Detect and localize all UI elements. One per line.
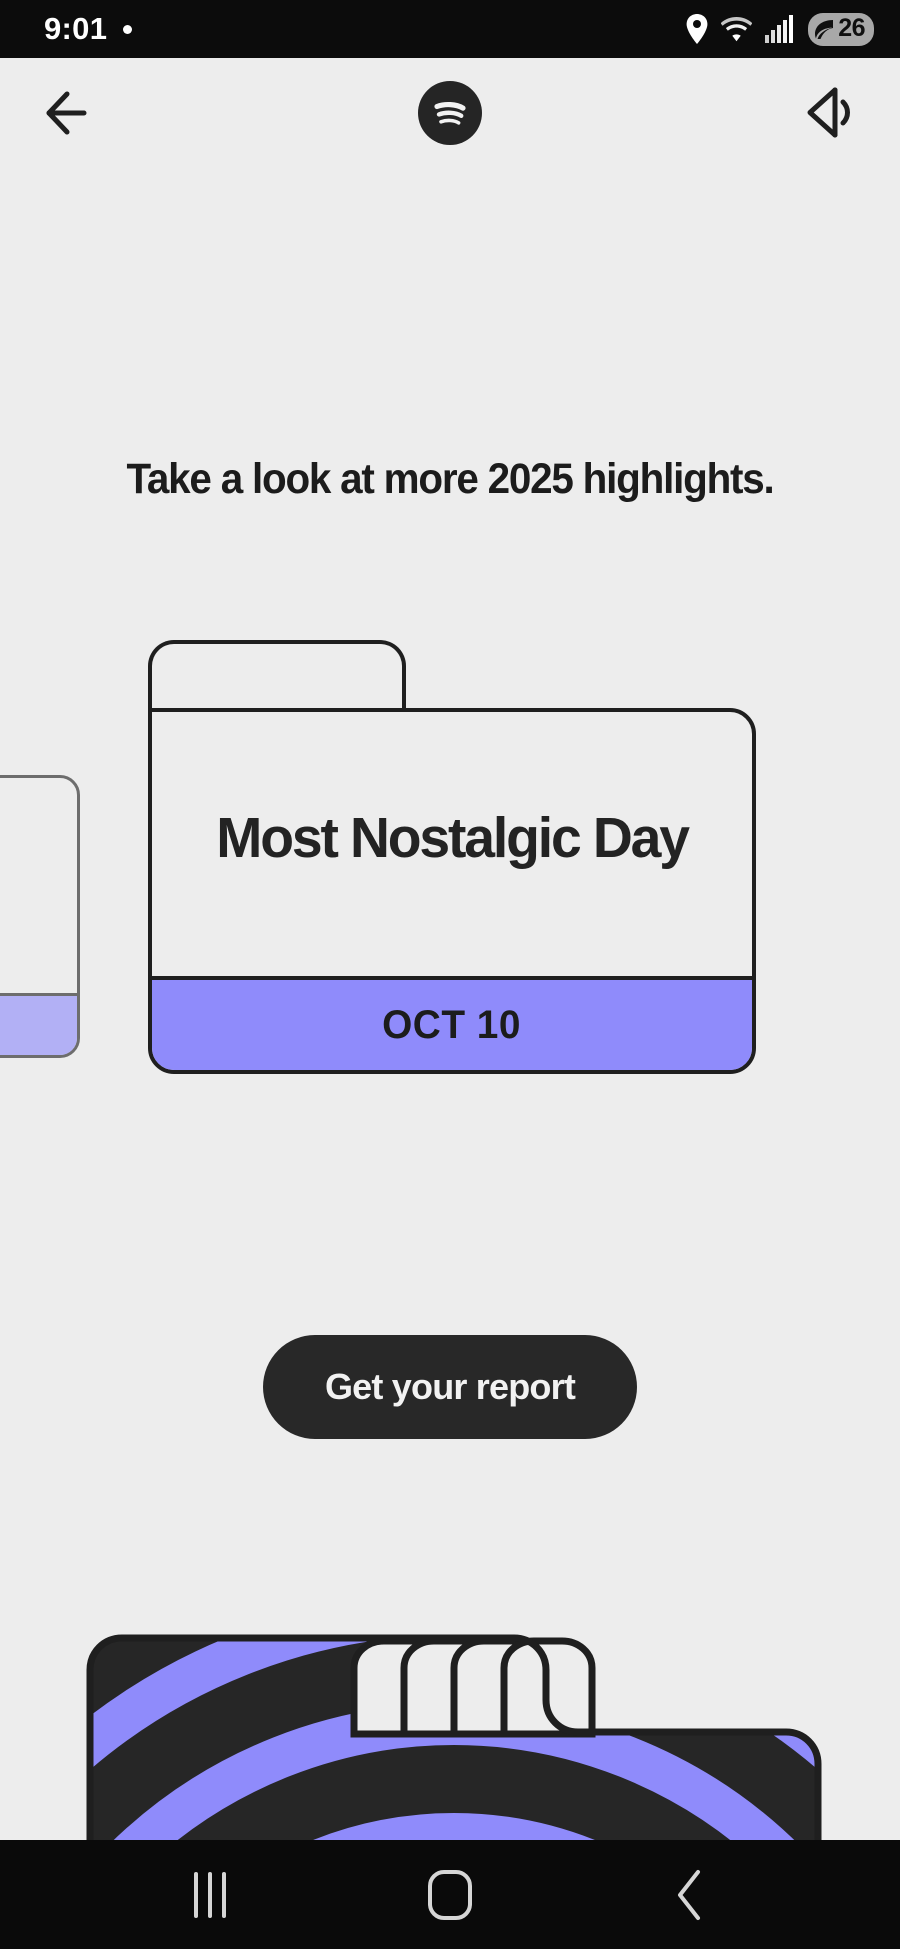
status-bar: 9:01 bbox=[0, 0, 900, 58]
card-date: OCT 10 bbox=[383, 1003, 522, 1048]
nav-back-button[interactable] bbox=[635, 1855, 745, 1935]
get-your-report-button[interactable]: Get your report bbox=[263, 1335, 637, 1439]
nav-home-button[interactable] bbox=[395, 1855, 505, 1935]
phone-screen: 9:01 bbox=[0, 0, 900, 1949]
card-title: Most Nostalgic Day bbox=[216, 809, 688, 868]
folder-body: Most Nostalgic Day OCT 10 bbox=[148, 708, 756, 1074]
app-header bbox=[0, 58, 900, 168]
chevron-left-icon bbox=[672, 1868, 708, 1922]
system-nav-bar bbox=[0, 1840, 900, 1949]
status-bar-right: 26 bbox=[686, 13, 874, 46]
folder-body bbox=[0, 775, 80, 1058]
home-icon bbox=[428, 1870, 472, 1920]
folder-body-inner: Most Nostalgic Day bbox=[152, 712, 752, 976]
cellular-signal-icon bbox=[765, 15, 795, 43]
spotify-logo-icon bbox=[418, 81, 482, 145]
battery-indicator: 26 bbox=[808, 13, 874, 46]
status-bar-left: 9:01 bbox=[44, 11, 132, 47]
folder-body-inner bbox=[0, 778, 77, 993]
highlight-card-carousel[interactable]: Most Nostalgic Day OCT 10 bbox=[0, 640, 900, 1160]
folder-footer: OCT 10 bbox=[152, 976, 752, 1070]
speaker-volume-icon bbox=[802, 86, 858, 140]
highlight-card-active[interactable]: Most Nostalgic Day OCT 10 bbox=[148, 640, 756, 1074]
location-icon bbox=[686, 14, 708, 44]
back-button[interactable] bbox=[38, 81, 102, 145]
battery-percent: 26 bbox=[838, 16, 865, 43]
status-clock: 9:01 bbox=[44, 11, 107, 47]
sound-toggle-button[interactable] bbox=[798, 81, 862, 145]
recents-icon bbox=[194, 1872, 226, 1918]
page-headline: Take a look at more 2025 highlights. bbox=[27, 455, 873, 504]
cta-container: Get your report bbox=[0, 1335, 900, 1439]
folder-footer bbox=[0, 993, 77, 1055]
folder-tab bbox=[148, 640, 406, 712]
highlight-card-previous[interactable] bbox=[0, 728, 80, 1058]
wifi-icon bbox=[721, 16, 752, 42]
arrow-left-icon bbox=[44, 90, 96, 136]
leaf-icon bbox=[812, 17, 836, 41]
notification-dot-icon bbox=[123, 25, 132, 34]
nav-recents-button[interactable] bbox=[155, 1855, 265, 1935]
